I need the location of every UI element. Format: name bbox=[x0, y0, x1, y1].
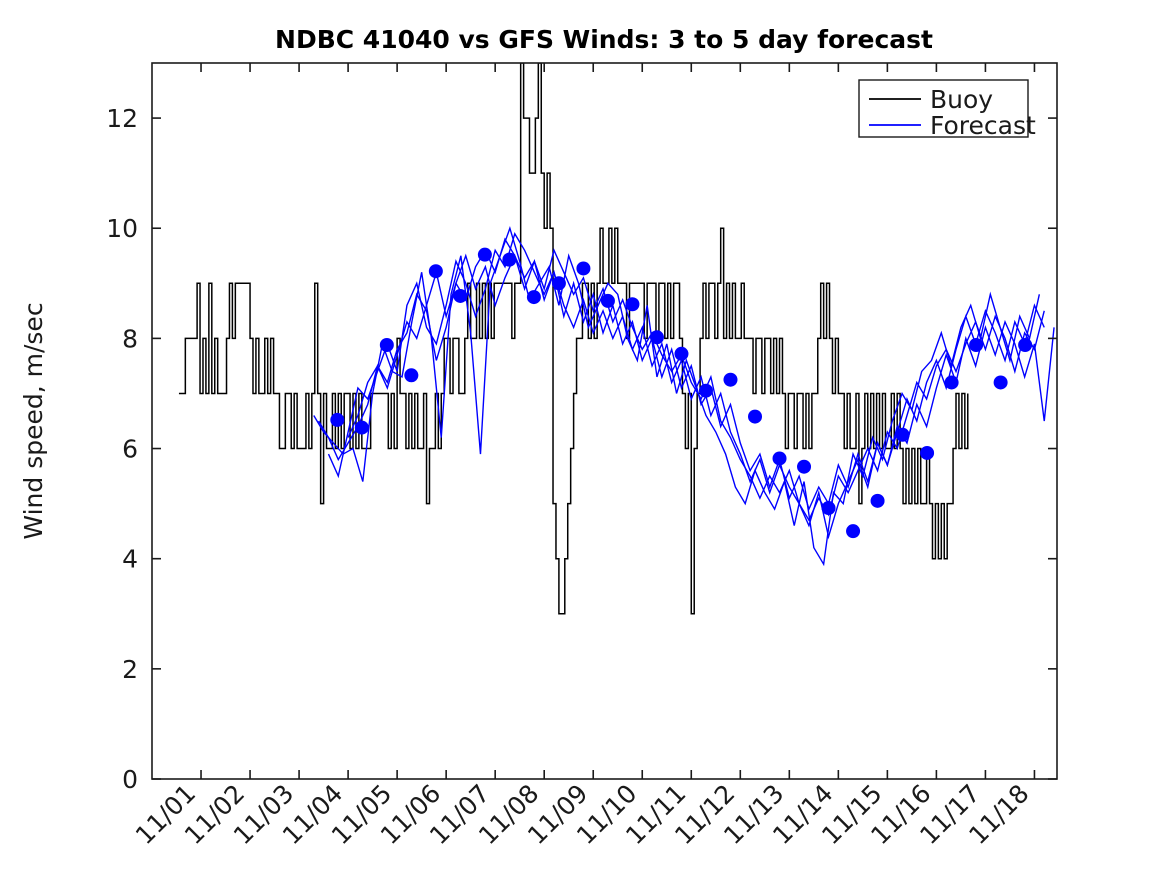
y-tick-label: 8 bbox=[122, 324, 138, 353]
forecast-marker-point bbox=[380, 338, 394, 352]
forecast-marker-point bbox=[846, 524, 860, 538]
forecast-marker-point bbox=[699, 384, 713, 398]
forecast-marker-point bbox=[674, 347, 688, 361]
forecast-marker-point bbox=[429, 264, 443, 278]
forecast-marker-point bbox=[330, 413, 344, 427]
y-tick-label: 12 bbox=[106, 104, 138, 133]
forecast-marker-point bbox=[650, 330, 664, 344]
legend: Buoy Forecast bbox=[859, 80, 1036, 140]
forecast-marker-point bbox=[527, 290, 541, 304]
chart-title: NDBC 41040 vs GFS Winds: 3 to 5 day fore… bbox=[275, 25, 933, 54]
forecast-marker-point bbox=[355, 421, 369, 435]
y-tick-label: 4 bbox=[122, 545, 138, 574]
forecast-marker-point bbox=[453, 289, 467, 303]
forecast-marker-point bbox=[625, 297, 639, 311]
forecast-marker-point bbox=[773, 451, 787, 465]
forecast-marker-point bbox=[723, 373, 737, 387]
forecast-marker-point bbox=[797, 460, 811, 474]
legend-label-forecast: Forecast bbox=[930, 111, 1036, 140]
y-axis-label: Wind speed, m/sec bbox=[19, 302, 48, 539]
forecast-marker-point bbox=[822, 501, 836, 515]
figure-root: NDBC 41040 vs GFS Winds: 3 to 5 day fore… bbox=[0, 0, 1167, 875]
forecast-marker-point bbox=[871, 494, 885, 508]
forecast-marker-point bbox=[896, 428, 910, 442]
legend-label-buoy: Buoy bbox=[930, 85, 993, 114]
forecast-marker-point bbox=[969, 338, 983, 352]
y-tick-label: 10 bbox=[106, 214, 138, 243]
forecast-marker-point bbox=[576, 261, 590, 275]
forecast-marker-point bbox=[945, 375, 959, 389]
y-tick-label: 0 bbox=[122, 765, 138, 794]
forecast-marker-point bbox=[404, 368, 418, 382]
y-tick-label: 2 bbox=[122, 655, 138, 684]
forecast-marker-point bbox=[748, 410, 762, 424]
forecast-marker-point bbox=[601, 294, 615, 308]
wind-speed-chart: NDBC 41040 vs GFS Winds: 3 to 5 day fore… bbox=[0, 0, 1167, 875]
forecast-marker-point bbox=[502, 253, 516, 267]
forecast-marker-point bbox=[1018, 338, 1032, 352]
forecast-marker-point bbox=[552, 276, 566, 290]
forecast-marker-point bbox=[478, 248, 492, 262]
forecast-marker-point bbox=[920, 446, 934, 460]
forecast-marker-point bbox=[994, 375, 1008, 389]
y-tick-label: 6 bbox=[122, 435, 138, 464]
